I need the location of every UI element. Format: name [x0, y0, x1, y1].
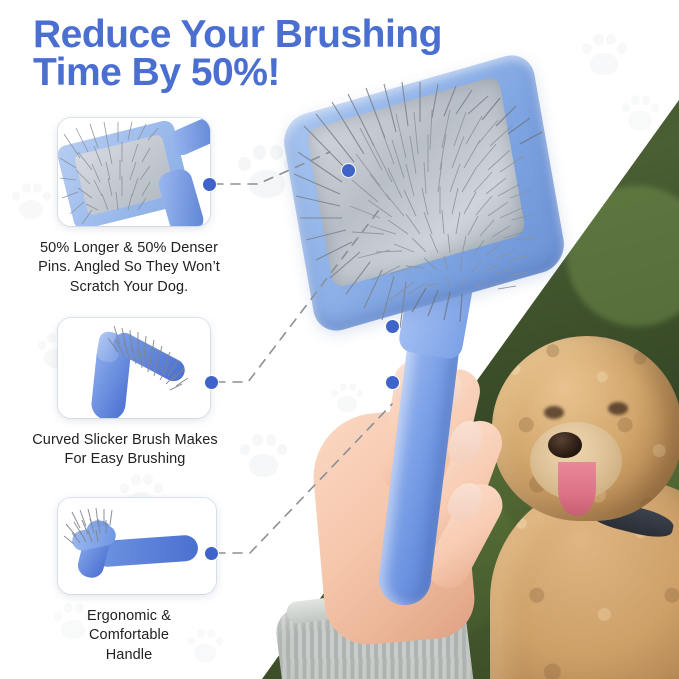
page-title: Reduce Your Brushing Time By 50%! [33, 16, 553, 92]
headline-line-2: Time By 50%! [33, 54, 553, 92]
feature-callout-curved-slicker-brush: Curved Slicker Brush Makes For Easy Brus… [10, 318, 240, 470]
feature-caption-line-2: Comfortable [14, 626, 244, 645]
feature-caption-line-3: Scratch Your Dog. [14, 278, 244, 297]
connector-dot-feature-2 [205, 376, 218, 389]
feature-caption-line-1: Ergonomic & [14, 607, 244, 626]
feature-image-card [58, 498, 216, 594]
feature-caption-line-1: Curved Slicker Brush Makes [10, 431, 240, 450]
curved-brush-side-view-image [58, 318, 210, 418]
paw-watermark-icon [580, 30, 628, 78]
connector-dot-head-bottom [386, 320, 399, 333]
main-product-brush [286, 74, 586, 594]
feature-callout-ergonomic-handle: Ergonomic & Comfortable Handle [14, 498, 244, 665]
feature-image-card [58, 318, 210, 418]
feature-caption-line-2: Pins. Angled So They Won’t [14, 258, 244, 277]
connector-dot-feature-1 [203, 178, 216, 191]
feature-caption: Ergonomic & Comfortable Handle [14, 607, 244, 665]
paw-watermark-icon [238, 430, 288, 480]
connector-dot-head-top [342, 164, 355, 177]
feature-image-card [58, 118, 210, 226]
paw-watermark-icon [620, 92, 660, 132]
feature-callout-longer-denser-pins: 50% Longer & 50% Denser Pins. Angled So … [14, 118, 244, 297]
connector-dot-handle [386, 376, 399, 389]
feature-caption: Curved Slicker Brush Makes For Easy Brus… [10, 431, 240, 470]
brush-full-profile-handle-image [58, 498, 216, 594]
feature-caption-line-2: For Easy Brushing [10, 450, 240, 469]
connector-dot-feature-3 [205, 547, 218, 560]
headline-line-1: Reduce Your Brushing [33, 16, 553, 54]
infographic-canvas: Reduce Your Brushing Time By 50%! [0, 0, 679, 679]
feature-caption-line-3: Handle [14, 646, 244, 665]
slicker-brush-head-closeup-image [58, 118, 210, 226]
feature-caption-line-1: 50% Longer & 50% Denser [14, 239, 244, 258]
feature-caption: 50% Longer & 50% Denser Pins. Angled So … [14, 239, 244, 297]
